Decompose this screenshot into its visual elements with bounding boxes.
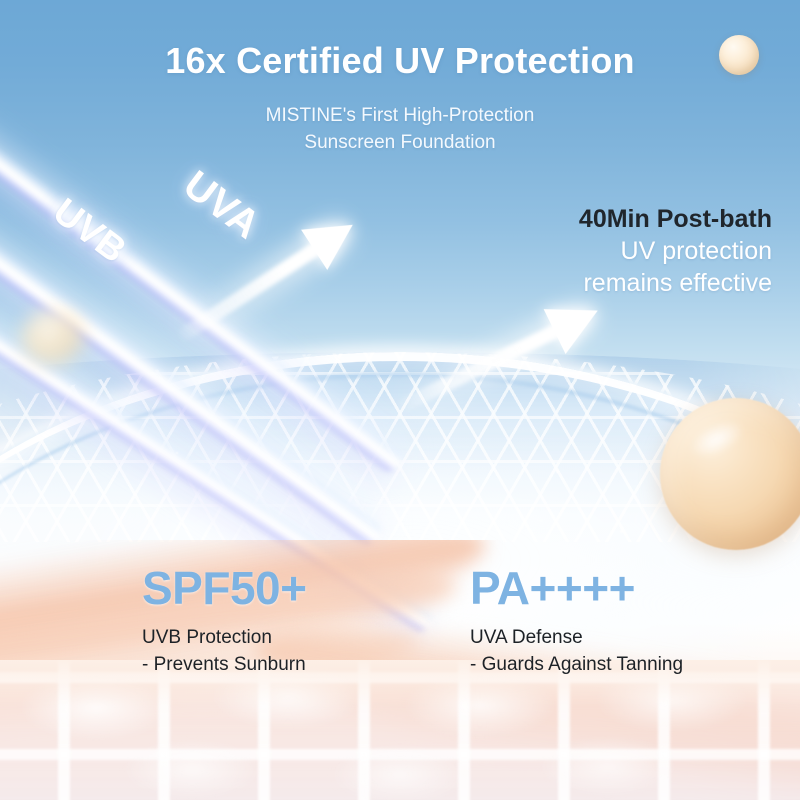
spec-spf: SPF50+ UVB Protection - Prevents Sunburn (142, 562, 307, 678)
spec-pa: PA++++ UVA Defense - Guards Against Tann… (470, 562, 683, 678)
spec-rating-spf: SPF50+ (142, 562, 307, 614)
page-title: 16x Certified UV Protection (0, 40, 800, 82)
spec-detail-pa-1: UVA Defense (470, 624, 683, 651)
subtitle-line-2: Sunscreen Foundation (0, 129, 800, 156)
spec-detail-spf-1: UVB Protection (142, 624, 307, 651)
claim-line-3: remains effective (579, 267, 772, 299)
sparkle-2 (589, 505, 591, 507)
skin-cell-texture (0, 660, 800, 800)
foundation-droplet-icon-blurred (22, 310, 84, 364)
sunscreen-product-poster: UVB UVA 16x Certified UV Protection MIST… (0, 0, 800, 800)
sparkle-5 (176, 452, 178, 454)
spec-detail-pa-2: - Guards Against Tanning (470, 651, 683, 678)
sparkle-1 (556, 470, 559, 473)
foundation-droplet-icon (660, 398, 800, 550)
spec-detail-spf-2: - Prevents Sunburn (142, 651, 307, 678)
foundation-droplet-icon-small (719, 35, 759, 75)
claim-line-2: UV protection (579, 235, 772, 267)
sparkle-3 (620, 530, 623, 533)
sparkle-4 (540, 520, 542, 522)
page-subtitle: MISTINE's First High-Protection Sunscree… (0, 102, 800, 156)
spec-rating-pa: PA++++ (470, 562, 683, 614)
claim-line-1: 40Min Post-bath (579, 203, 772, 235)
subtitle-line-1: MISTINE's First High-Protection (0, 102, 800, 129)
post-bath-claim: 40Min Post-bath UV protection remains ef… (579, 203, 772, 299)
